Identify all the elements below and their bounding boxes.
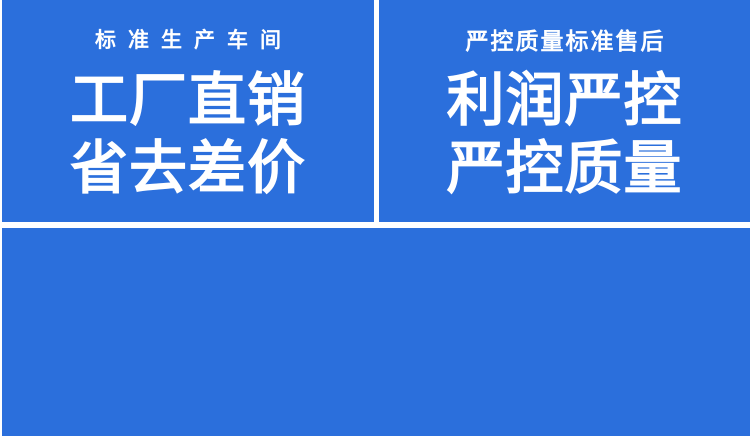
right-panel-headline-line2: 严控质量 xyxy=(379,140,750,198)
right-panel-headline-line1: 利润严控 xyxy=(379,72,750,130)
left-panel-eyebrow: 标准生产车间 xyxy=(2,30,374,51)
bottom-edge-strip xyxy=(0,436,750,440)
panel-quality-control: 严控质量标准售后 利润严控 严控质量 xyxy=(379,0,750,222)
panel-factory-direct: 标准生产车间 工厂直销 省去差价 xyxy=(2,0,374,222)
promo-banner: 标准生产车间 工厂直销 省去差价 严控质量标准售后 利润严控 严控质量 细节与优… xyxy=(0,0,750,440)
left-panel-headline-line1: 工厂直销 xyxy=(2,72,374,130)
panel-details-advantages: 细节与优势 不怕货比，就怕不识货 xyxy=(2,228,750,436)
right-panel-eyebrow: 严控质量标准售后 xyxy=(379,30,750,53)
left-panel-headline-line2: 省去差价 xyxy=(2,140,374,198)
